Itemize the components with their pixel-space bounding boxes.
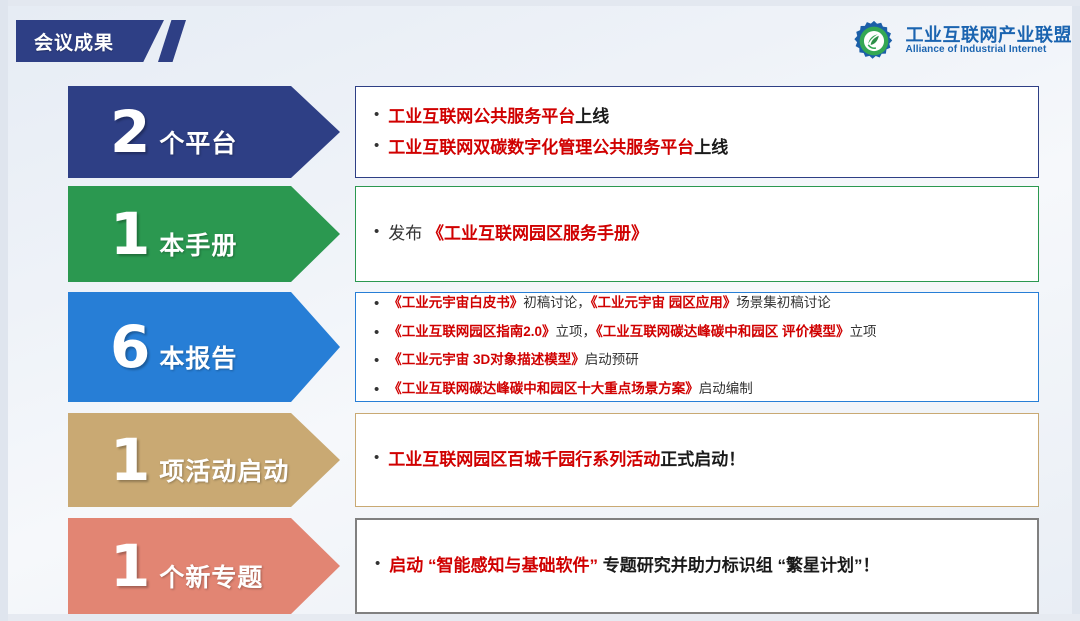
arrow-content: 1项活动启动 — [68, 431, 289, 489]
bullet-item: •工业互联网公共服务平台上线 — [370, 104, 1024, 130]
title-slash-decoration — [158, 20, 186, 62]
bullet-text-segment: 场景集初稿讨论 — [736, 295, 831, 310]
result-row: 1本手册•发布 《工业互联网园区服务手册》 — [8, 186, 1080, 282]
bullet-item: •工业互联网双碳数字化管理公共服务平台上线 — [370, 135, 1024, 161]
bullet-text-segment: 启动编制 — [699, 381, 753, 396]
detail-panel: •启动 “智能感知与基础软件” 专题研究并助力标识组 “繁星计划”！ — [355, 518, 1039, 614]
bullet-text: 《工业互联网碳达峰碳中和园区十大重点场景方案》启动编制 — [388, 379, 753, 399]
bullet-text: 《工业元宇宙白皮书》初稿讨论，《工业元宇宙 园区应用》场景集初稿讨论 — [388, 293, 831, 313]
category-arrow-banner[interactable]: 1项活动启动 — [68, 413, 340, 507]
bullet-text: 《工业互联网园区指南2.0》立项，《工业互联网碳达峰碳中和园区 评价模型》立项 — [388, 322, 876, 342]
bullet-text-segment: 工业互联网公共服务平台 — [388, 107, 575, 126]
category-label: 本手册 — [159, 226, 237, 262]
category-arrow-banner[interactable]: 2个平台 — [68, 86, 340, 178]
bullet-text-segment: 工业互联网园区百城千园行系列活动 — [388, 450, 660, 469]
bullet-dot-icon: • — [370, 293, 379, 316]
bullet-text-segment: 上线 — [694, 138, 728, 157]
bullet-text-segment: 立项， — [556, 324, 597, 339]
detail-panel: •发布 《工业互联网园区服务手册》 — [355, 186, 1039, 282]
bullet-text-segment: 专题研究并助力标识组 “繁星计划”！ — [603, 556, 880, 575]
slide-canvas: 会议成果 工业互联网产业联盟 Alliance of In — [0, 0, 1080, 621]
bullet-text-segment: 初稿讨论， — [523, 295, 591, 310]
bullet-item: •发布 《工业互联网园区服务手册》 — [370, 221, 1024, 247]
bullet-dot-icon: • — [370, 447, 379, 470]
arrow-content: 1个新专题 — [68, 537, 263, 595]
bullet-dot-icon: • — [370, 135, 379, 158]
category-label: 个新专题 — [159, 558, 263, 594]
bullet-item: •工业互联网园区百城千园行系列活动正式启动！ — [370, 447, 1024, 473]
bullet-text-segment: 《工业互联网园区服务手册》 — [427, 224, 648, 243]
slide-bottom-edge — [8, 614, 1080, 621]
detail-panel: •工业互联网公共服务平台上线•工业互联网双碳数字化管理公共服务平台上线 — [355, 86, 1039, 178]
bullet-dot-icon: • — [370, 221, 379, 244]
logo-text-block: 工业互联网产业联盟 Alliance of Industrial Interne… — [906, 26, 1073, 56]
bullet-text-segment: 《工业互联网碳达峰碳中和园区十大重点场景方案》 — [388, 381, 699, 396]
detail-panel: •《工业元宇宙白皮书》初稿讨论，《工业元宇宙 园区应用》场景集初稿讨论•《工业互… — [355, 292, 1039, 402]
category-label: 个平台 — [159, 124, 237, 160]
bullet-text-segment: 发布 — [388, 224, 427, 243]
bullet-text-segment: 《工业互联网碳达峰碳中和园区 评价模型》 — [596, 324, 850, 339]
bullet-dot-icon: • — [370, 104, 379, 127]
bullet-text-segment: 《工业元宇宙 园区应用》 — [591, 295, 737, 310]
bullet-text-segment: 工业互联网双碳数字化管理公共服务平台 — [388, 138, 694, 157]
arrow-content: 6本报告 — [68, 318, 237, 376]
result-row: 2个平台•工业互联网公共服务平台上线•工业互联网双碳数字化管理公共服务平台上线 — [8, 86, 1080, 178]
bullet-text-segment: 立项 — [850, 324, 877, 339]
bullet-text: 工业互联网园区百城千园行系列活动正式启动！ — [388, 447, 745, 473]
category-arrow-banner[interactable]: 6本报告 — [68, 292, 340, 402]
bullet-dot-icon: • — [371, 553, 380, 576]
bullet-item: •《工业元宇宙 3D对象描述模型》启动预研 — [370, 350, 1024, 373]
bullet-item: •《工业互联网碳达峰碳中和园区十大重点场景方案》启动编制 — [370, 379, 1024, 402]
arrow-content: 1本手册 — [68, 205, 237, 263]
page-title-banner: 会议成果 — [16, 20, 164, 62]
result-row: 6本报告•《工业元宇宙白皮书》初稿讨论，《工业元宇宙 园区应用》场景集初稿讨论•… — [8, 292, 1080, 402]
bullet-item: •《工业互联网园区指南2.0》立项，《工业互联网碳达峰碳中和园区 评价模型》立项 — [370, 322, 1024, 345]
page-title: 会议成果 — [16, 28, 114, 55]
category-label: 项活动启动 — [159, 452, 289, 488]
detail-panel: •工业互联网园区百城千园行系列活动正式启动！ — [355, 413, 1039, 507]
result-row: 1个新专题•启动 “智能感知与基础软件” 专题研究并助力标识组 “繁星计划”！ — [8, 518, 1080, 614]
slide-header: 会议成果 工业互联网产业联盟 Alliance of In — [8, 20, 1080, 70]
bullet-text: 工业互联网公共服务平台上线 — [388, 104, 609, 130]
category-label: 本报告 — [159, 339, 237, 375]
logo-english-name: Alliance of Industrial Internet — [906, 45, 1073, 56]
bullet-text-segment: 正式启动！ — [660, 450, 745, 469]
logo-chinese-name: 工业互联网产业联盟 — [906, 26, 1073, 45]
bullet-text: 发布 《工业互联网园区服务手册》 — [388, 221, 648, 247]
bullet-text: 《工业元宇宙 3D对象描述模型》启动预研 — [388, 350, 639, 370]
bullet-item: •启动 “智能感知与基础软件” 专题研究并助力标识组 “繁星计划”！ — [371, 553, 1023, 579]
bullet-text-segment: 《工业元宇宙 3D对象描述模型》 — [388, 352, 585, 367]
bullet-dot-icon: • — [370, 322, 379, 345]
bullet-text-segment: 《工业元宇宙白皮书》 — [388, 295, 523, 310]
category-count: 1 — [110, 537, 150, 595]
category-count: 1 — [110, 431, 150, 489]
bullet-text-segment: 启动预研 — [585, 352, 639, 367]
bullet-text: 启动 “智能感知与基础软件” 专题研究并助力标识组 “繁星计划”！ — [389, 553, 879, 579]
gear-leaf-logo-icon — [851, 18, 897, 64]
bullet-dot-icon: • — [370, 379, 379, 402]
arrow-content: 2个平台 — [68, 103, 237, 161]
organization-logo: 工业互联网产业联盟 Alliance of Industrial Interne… — [851, 18, 1073, 64]
bullet-text: 工业互联网双碳数字化管理公共服务平台上线 — [388, 135, 728, 161]
bullet-text-segment: 上线 — [575, 107, 609, 126]
category-count: 2 — [110, 103, 150, 161]
slide-top-edge — [8, 0, 1080, 6]
category-count: 1 — [110, 205, 150, 263]
bullet-text-segment: 《工业互联网园区指南2.0》 — [388, 324, 555, 339]
bullet-text-segment: 启动 “智能感知与基础软件” — [389, 556, 602, 575]
result-row: 1项活动启动•工业互联网园区百城千园行系列活动正式启动！ — [8, 413, 1080, 507]
bullet-item: •《工业元宇宙白皮书》初稿讨论，《工业元宇宙 园区应用》场景集初稿讨论 — [370, 293, 1024, 316]
bullet-dot-icon: • — [370, 350, 379, 373]
category-arrow-banner[interactable]: 1个新专题 — [68, 518, 340, 614]
category-count: 6 — [110, 318, 150, 376]
category-arrow-banner[interactable]: 1本手册 — [68, 186, 340, 282]
